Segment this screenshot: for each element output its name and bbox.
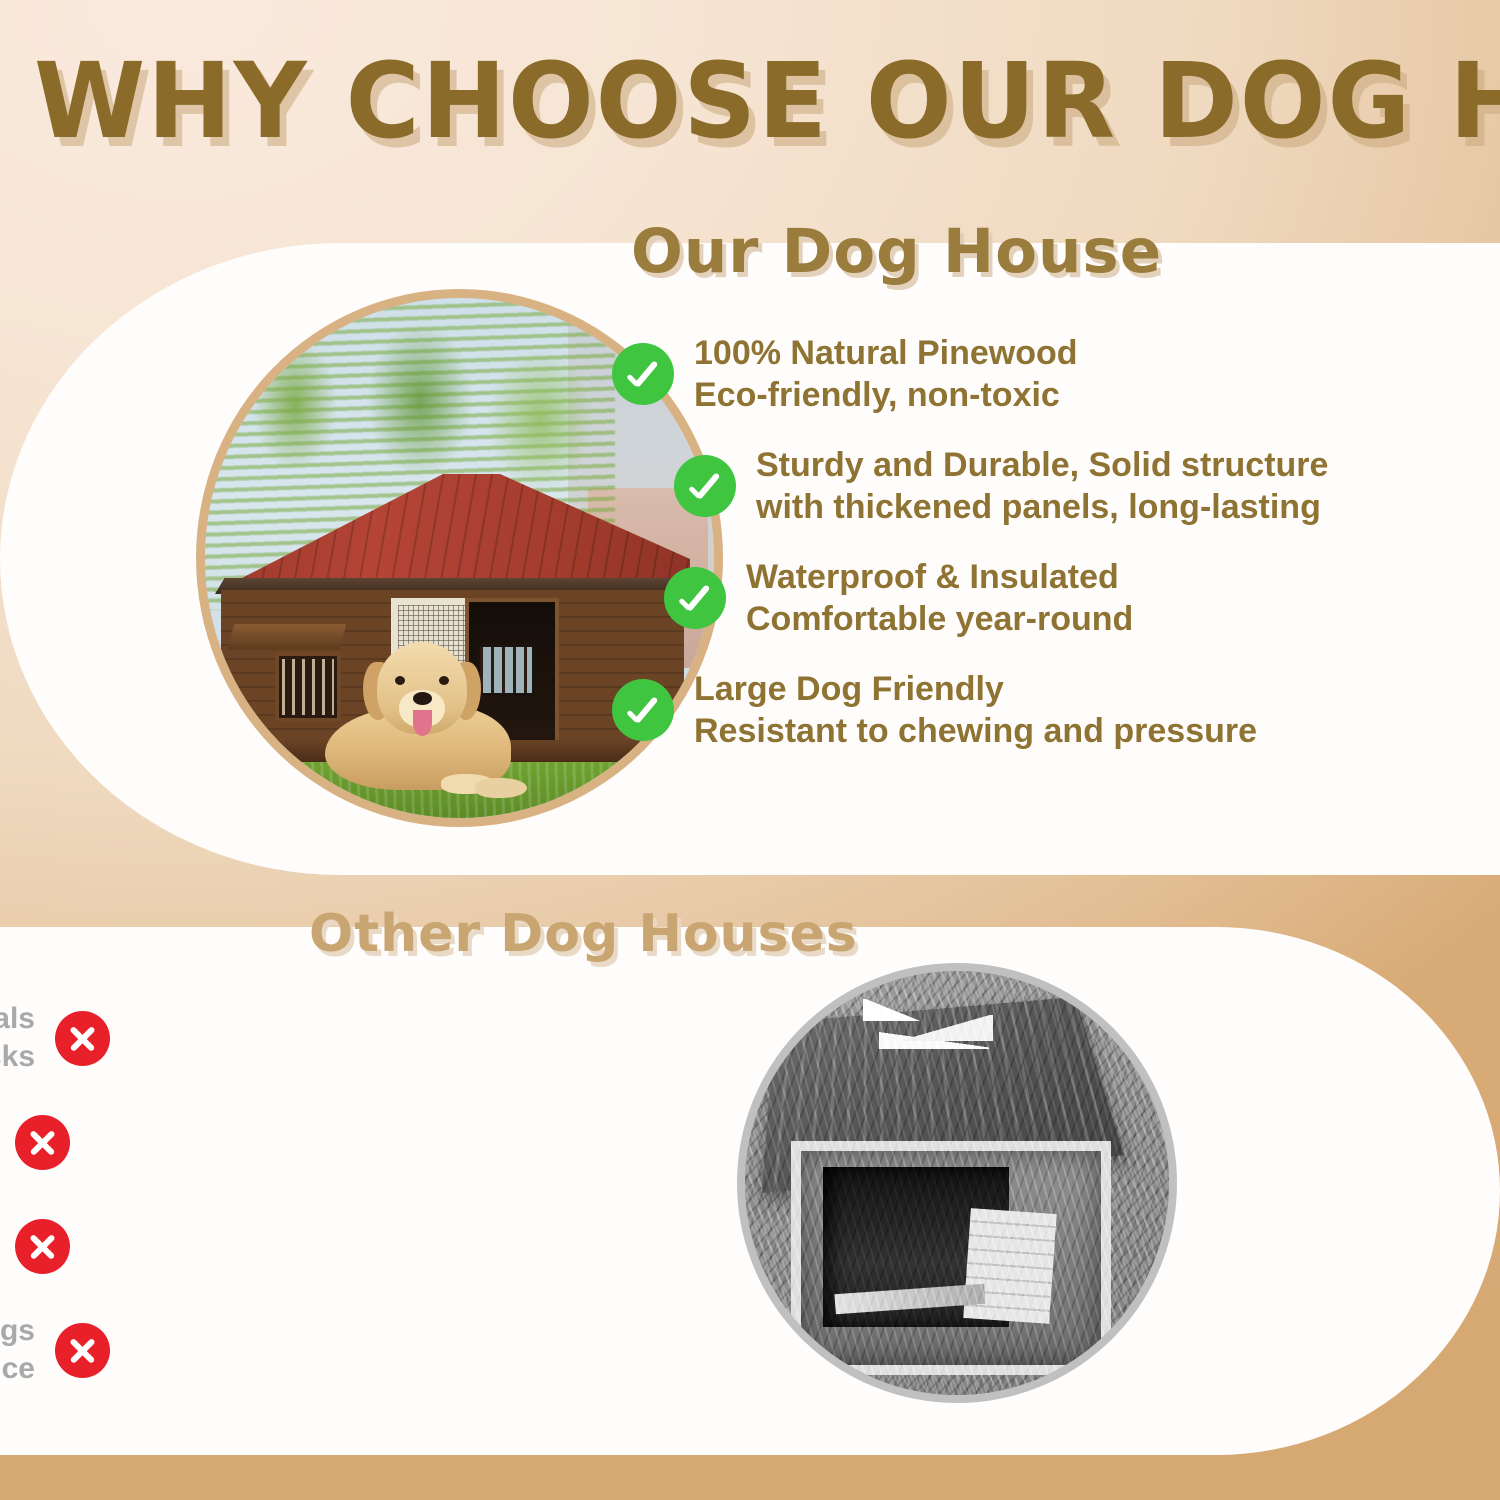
drawback-text: Not Suitable for Large Dogs Weak structu… [0,1312,35,1388]
list-item: 100% Natural Pinewood Eco-friendly, non-… [612,332,1452,416]
list-item: Sturdy and Durable, Solid structure with… [674,444,1452,528]
ours-benefits-list: 100% Natural Pinewood Eco-friendly, non-… [612,332,1452,780]
benefit-text: Large Dog Friendly Resistant to chewing … [694,668,1257,752]
cross-icon [15,1219,70,1274]
drawback-line-1: Not Suitable for Large Dogs [0,1312,35,1350]
benefit-line-1: Large Dog Friendly [694,668,1257,710]
cross-icon [55,1011,110,1066]
header-band: WHY CHOOSE OUR DOG HOUSE?" [0,0,1500,240]
benefit-text: Sturdy and Durable, Solid structure with… [756,444,1328,528]
cross-icon [55,1323,110,1378]
check-icon [612,343,674,405]
check-icon [664,567,726,629]
list-item: Waterproof & Insulated Comfortable year-… [664,556,1452,640]
list-item: Poor Protection Leaks, too hot/cold [0,1208,800,1284]
check-icon [674,455,736,517]
benefit-line-2: Eco-friendly, non-toxic [694,374,1078,416]
list-item: Not Suitable for Large Dogs Weak structu… [0,1312,800,1388]
benefit-text: 100% Natural Pinewood Eco-friendly, non-… [694,332,1078,416]
benefit-line-1: 100% Natural Pinewood [694,332,1078,374]
others-drawbacks-list: Cheap Materials Plastic smell, health ri… [0,1000,800,1416]
photo-roof-debris [863,999,1013,1057]
list-item: Large Dog Friendly Resistant to chewing … [612,668,1452,752]
benefit-line-2: Resistant to chewing and pressure [694,710,1257,752]
list-item: Not Long-Lasting Thin panels break easil… [0,1104,800,1180]
photo-dog-tongue [413,710,432,736]
benefit-line-2: with thickened panels, long-lasting [756,486,1328,528]
others-heading: Other Dog Houses [309,904,858,964]
cross-icon [15,1115,70,1170]
photo-golden-retriever [325,638,515,790]
check-icon [612,679,674,741]
photo-broken-plank [963,1208,1056,1324]
drawback-line-2: Weak structure, low weight tolerance [0,1350,35,1388]
benefit-line-1: Sturdy and Durable, Solid structure [756,444,1328,486]
photo-dog-paw-right [475,778,527,798]
drawback-line-2: Plastic smell, health risks [0,1038,35,1076]
list-item: Cheap Materials Plastic smell, health ri… [0,1000,800,1076]
drawback-text: Cheap Materials Plastic smell, health ri… [0,1000,35,1076]
photo-dog-eye-left [395,676,405,685]
benefit-line-1: Waterproof & Insulated [746,556,1133,598]
ours-heading: Our Dog House [631,216,1162,287]
others-product-photo [737,963,1177,1403]
benefit-text: Waterproof & Insulated Comfortable year-… [746,556,1133,640]
photo-dog-eye-right [439,676,449,685]
benefit-line-2: Comfortable year-round [746,598,1133,640]
drawback-line-1: Cheap Materials [0,1000,35,1038]
infographic-page: WHY CHOOSE OUR DOG HOUSE?" Our Dog House [0,0,1500,1500]
photo-dog-nose [413,692,432,705]
page-title: WHY CHOOSE OUR DOG HOUSE?" [34,46,1431,156]
